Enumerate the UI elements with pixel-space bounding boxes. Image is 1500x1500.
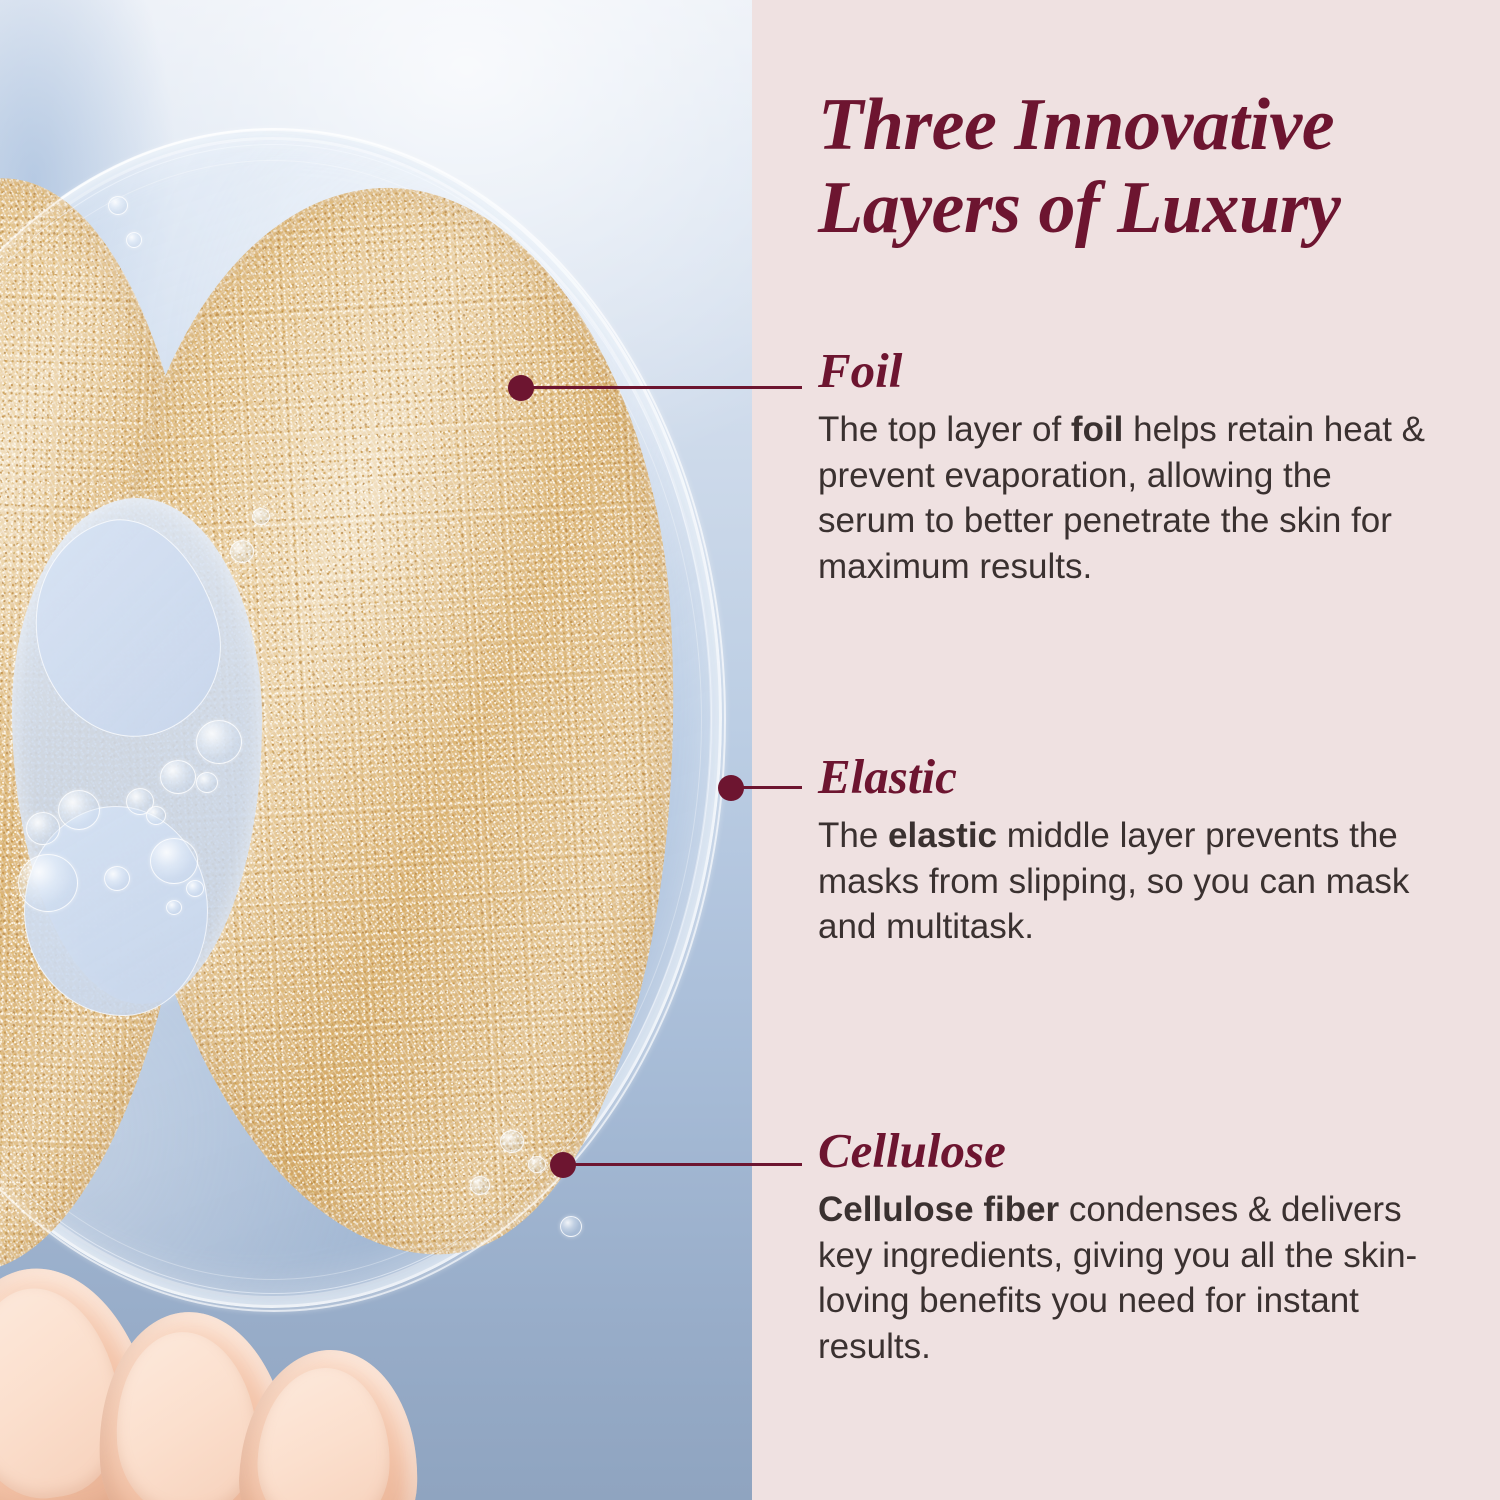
layer-body-foil: The top layer of foil helps retain heat … [818, 407, 1438, 589]
text-panel: Three Innovative Layers of Luxury Foil T… [752, 0, 1500, 1500]
body-prefix: The [818, 816, 888, 855]
infographic-root: Three Innovative Layers of Luxury Foil T… [0, 0, 1500, 1500]
leader-dot-foil [508, 375, 534, 401]
body-bold: elastic [888, 816, 997, 855]
body-bold: foil [1071, 410, 1123, 449]
product-photo [0, 0, 752, 1500]
body-bold: Cellulose fiber [818, 1190, 1059, 1229]
page-title: Three Innovative Layers of Luxury [818, 84, 1458, 250]
leader-dot-cellulose [550, 1152, 576, 1178]
leader-dot-elastic [718, 775, 744, 801]
leader-line-foil [520, 386, 802, 389]
headline-line-2: Layers of Luxury [818, 167, 1458, 250]
hand [0, 1204, 500, 1500]
layer-title-cellulose: Cellulose [818, 1126, 1438, 1175]
leader-line-cellulose [562, 1163, 802, 1166]
layer-body-elastic: The elastic middle layer prevents the ma… [818, 813, 1438, 950]
layer-body-cellulose: Cellulose fiber condenses & delivers key… [818, 1187, 1438, 1369]
headline-line-1: Three Innovative [818, 84, 1458, 167]
layer-section-elastic: Elastic The elastic middle layer prevent… [818, 752, 1438, 950]
layer-section-foil: Foil The top layer of foil helps retain … [818, 346, 1438, 589]
bubble [560, 1216, 582, 1237]
layer-section-cellulose: Cellulose Cellulose fiber condenses & de… [818, 1126, 1438, 1369]
layer-title-foil: Foil [818, 346, 1438, 395]
layer-title-elastic: Elastic [818, 752, 1438, 801]
body-prefix: The top layer of [818, 410, 1071, 449]
